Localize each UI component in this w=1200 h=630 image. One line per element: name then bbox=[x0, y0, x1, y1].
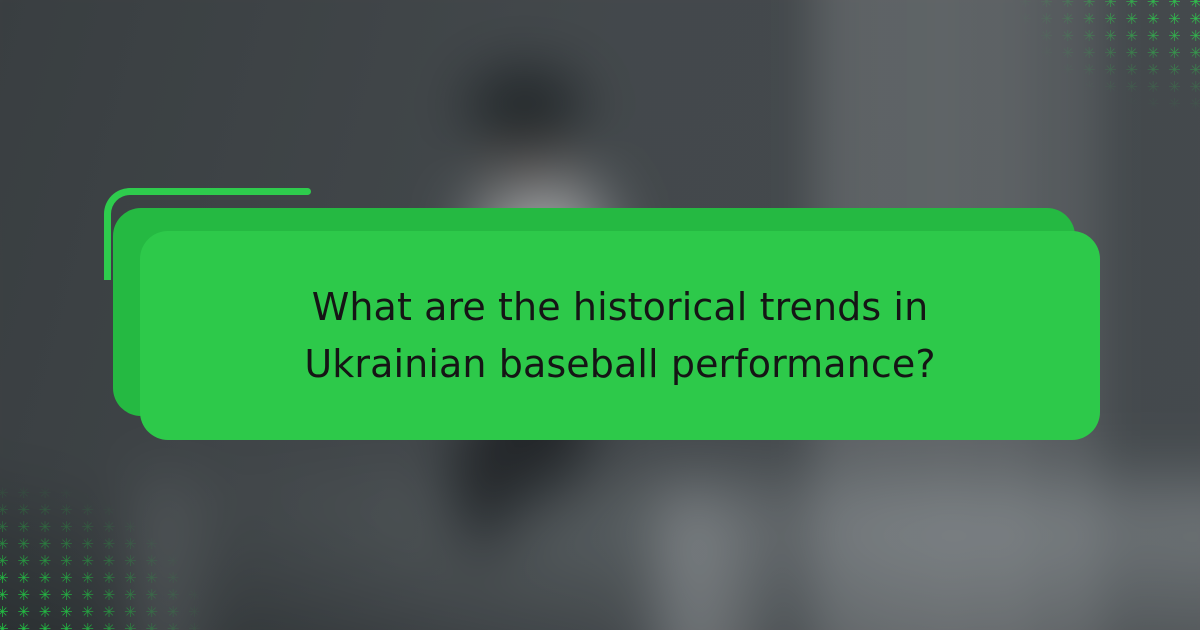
question-title: What are the historical trends in Ukrain… bbox=[212, 279, 1028, 391]
share-card-canvas: ✳ ✳ ✳ ✳ ✳ ✳ ✳ ✳ ✳ ✳ ✳ ✳ ✳ ✳ ✳ ✳ ✳ ✳ ✳ ✳ … bbox=[0, 0, 1200, 630]
question-card: What are the historical trends in Ukrain… bbox=[140, 231, 1100, 440]
